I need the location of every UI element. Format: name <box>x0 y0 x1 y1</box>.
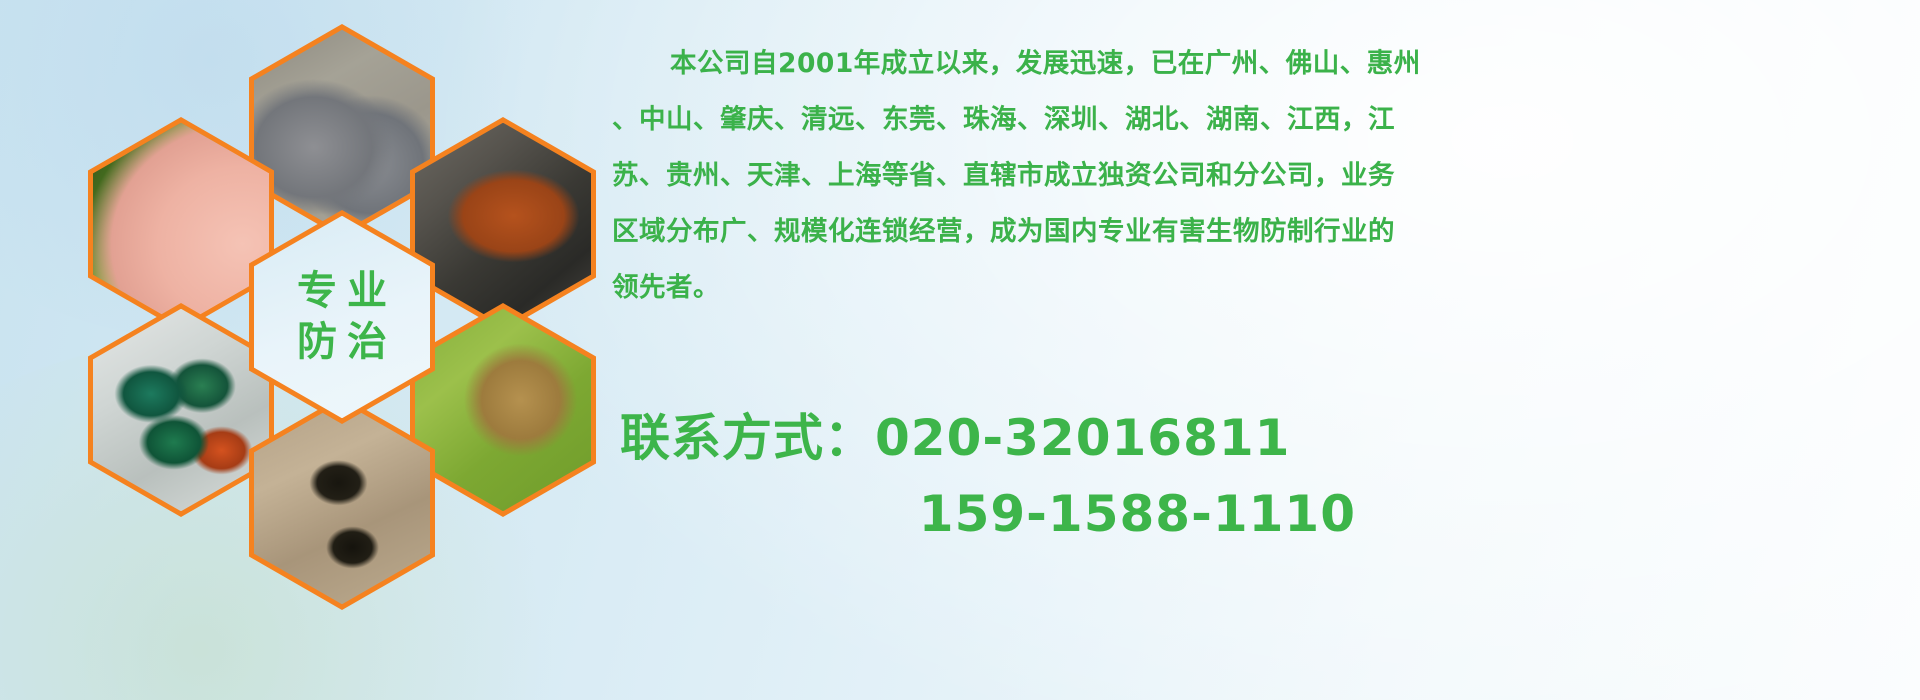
hex-cell-cockroach[interactable] <box>410 117 596 331</box>
about-line-1: 本公司自2001年成立以来，发展迅速，已在广州、佛山、惠州 <box>612 36 1352 92</box>
honeycomb-image-cluster: 专业 防治 <box>88 8 588 568</box>
contact-primary-phone[interactable]: 联系方式：020-32016811 <box>620 400 1380 476</box>
hex-inner-ant <box>254 402 430 605</box>
hex-cell-slogan: 专业 防治 <box>249 210 435 424</box>
ant-photo <box>254 402 430 605</box>
hex-cell-flies[interactable] <box>88 303 274 517</box>
hex-cell-rats[interactable] <box>249 24 435 238</box>
mosquito-photo <box>93 123 269 326</box>
hex-inner-stinkbug <box>415 309 591 512</box>
slogan-line-1: 专业 <box>287 270 397 313</box>
stinkbug-photo <box>415 309 591 512</box>
rats-photo <box>254 30 430 233</box>
about-line-2: 、中山、肇庆、清远、东莞、珠海、深圳、湖北、湖南、江西，江 <box>612 92 1352 148</box>
hex-inner-cockroach <box>415 123 591 326</box>
hex-inner-flies <box>93 309 269 512</box>
slogan-label: 专业 防治 <box>254 216 430 419</box>
about-line-5: 领先者。 <box>612 260 1352 316</box>
about-line-4: 区域分布广、规模化连锁经营，成为国内专业有害生物防制行业的 <box>612 204 1352 260</box>
contact-secondary-phone[interactable]: 159-1588-1110 <box>620 476 1380 552</box>
slogan-line-2: 防治 <box>287 321 397 364</box>
about-line-3: 苏、贵州、天津、上海等省、直辖市成立独资公司和分公司，业务 <box>612 148 1352 204</box>
hex-inner-rats <box>254 30 430 233</box>
about-paragraph: 本公司自2001年成立以来，发展迅速，已在广州、佛山、惠州 、中山、肇庆、清远、… <box>612 36 1352 316</box>
hex-inner-slogan: 专业 防治 <box>254 216 430 419</box>
contact-block: 联系方式：020-32016811 159-1588-1110 <box>620 400 1380 552</box>
hex-cell-mosquito[interactable] <box>88 117 274 331</box>
promo-banner: 专业 防治 本公司自2001年成立以来，发展迅速，已在广州、佛山、惠州 、中山、… <box>0 0 1920 700</box>
hex-cell-stinkbug[interactable] <box>410 303 596 517</box>
hex-cell-ant[interactable] <box>249 396 435 610</box>
content-column: 本公司自2001年成立以来，发展迅速，已在广州、佛山、惠州 、中山、肇庆、清远、… <box>612 0 1912 700</box>
flies-photo <box>93 309 269 512</box>
cockroach-photo <box>415 123 591 326</box>
hex-inner-mosquito <box>93 123 269 326</box>
